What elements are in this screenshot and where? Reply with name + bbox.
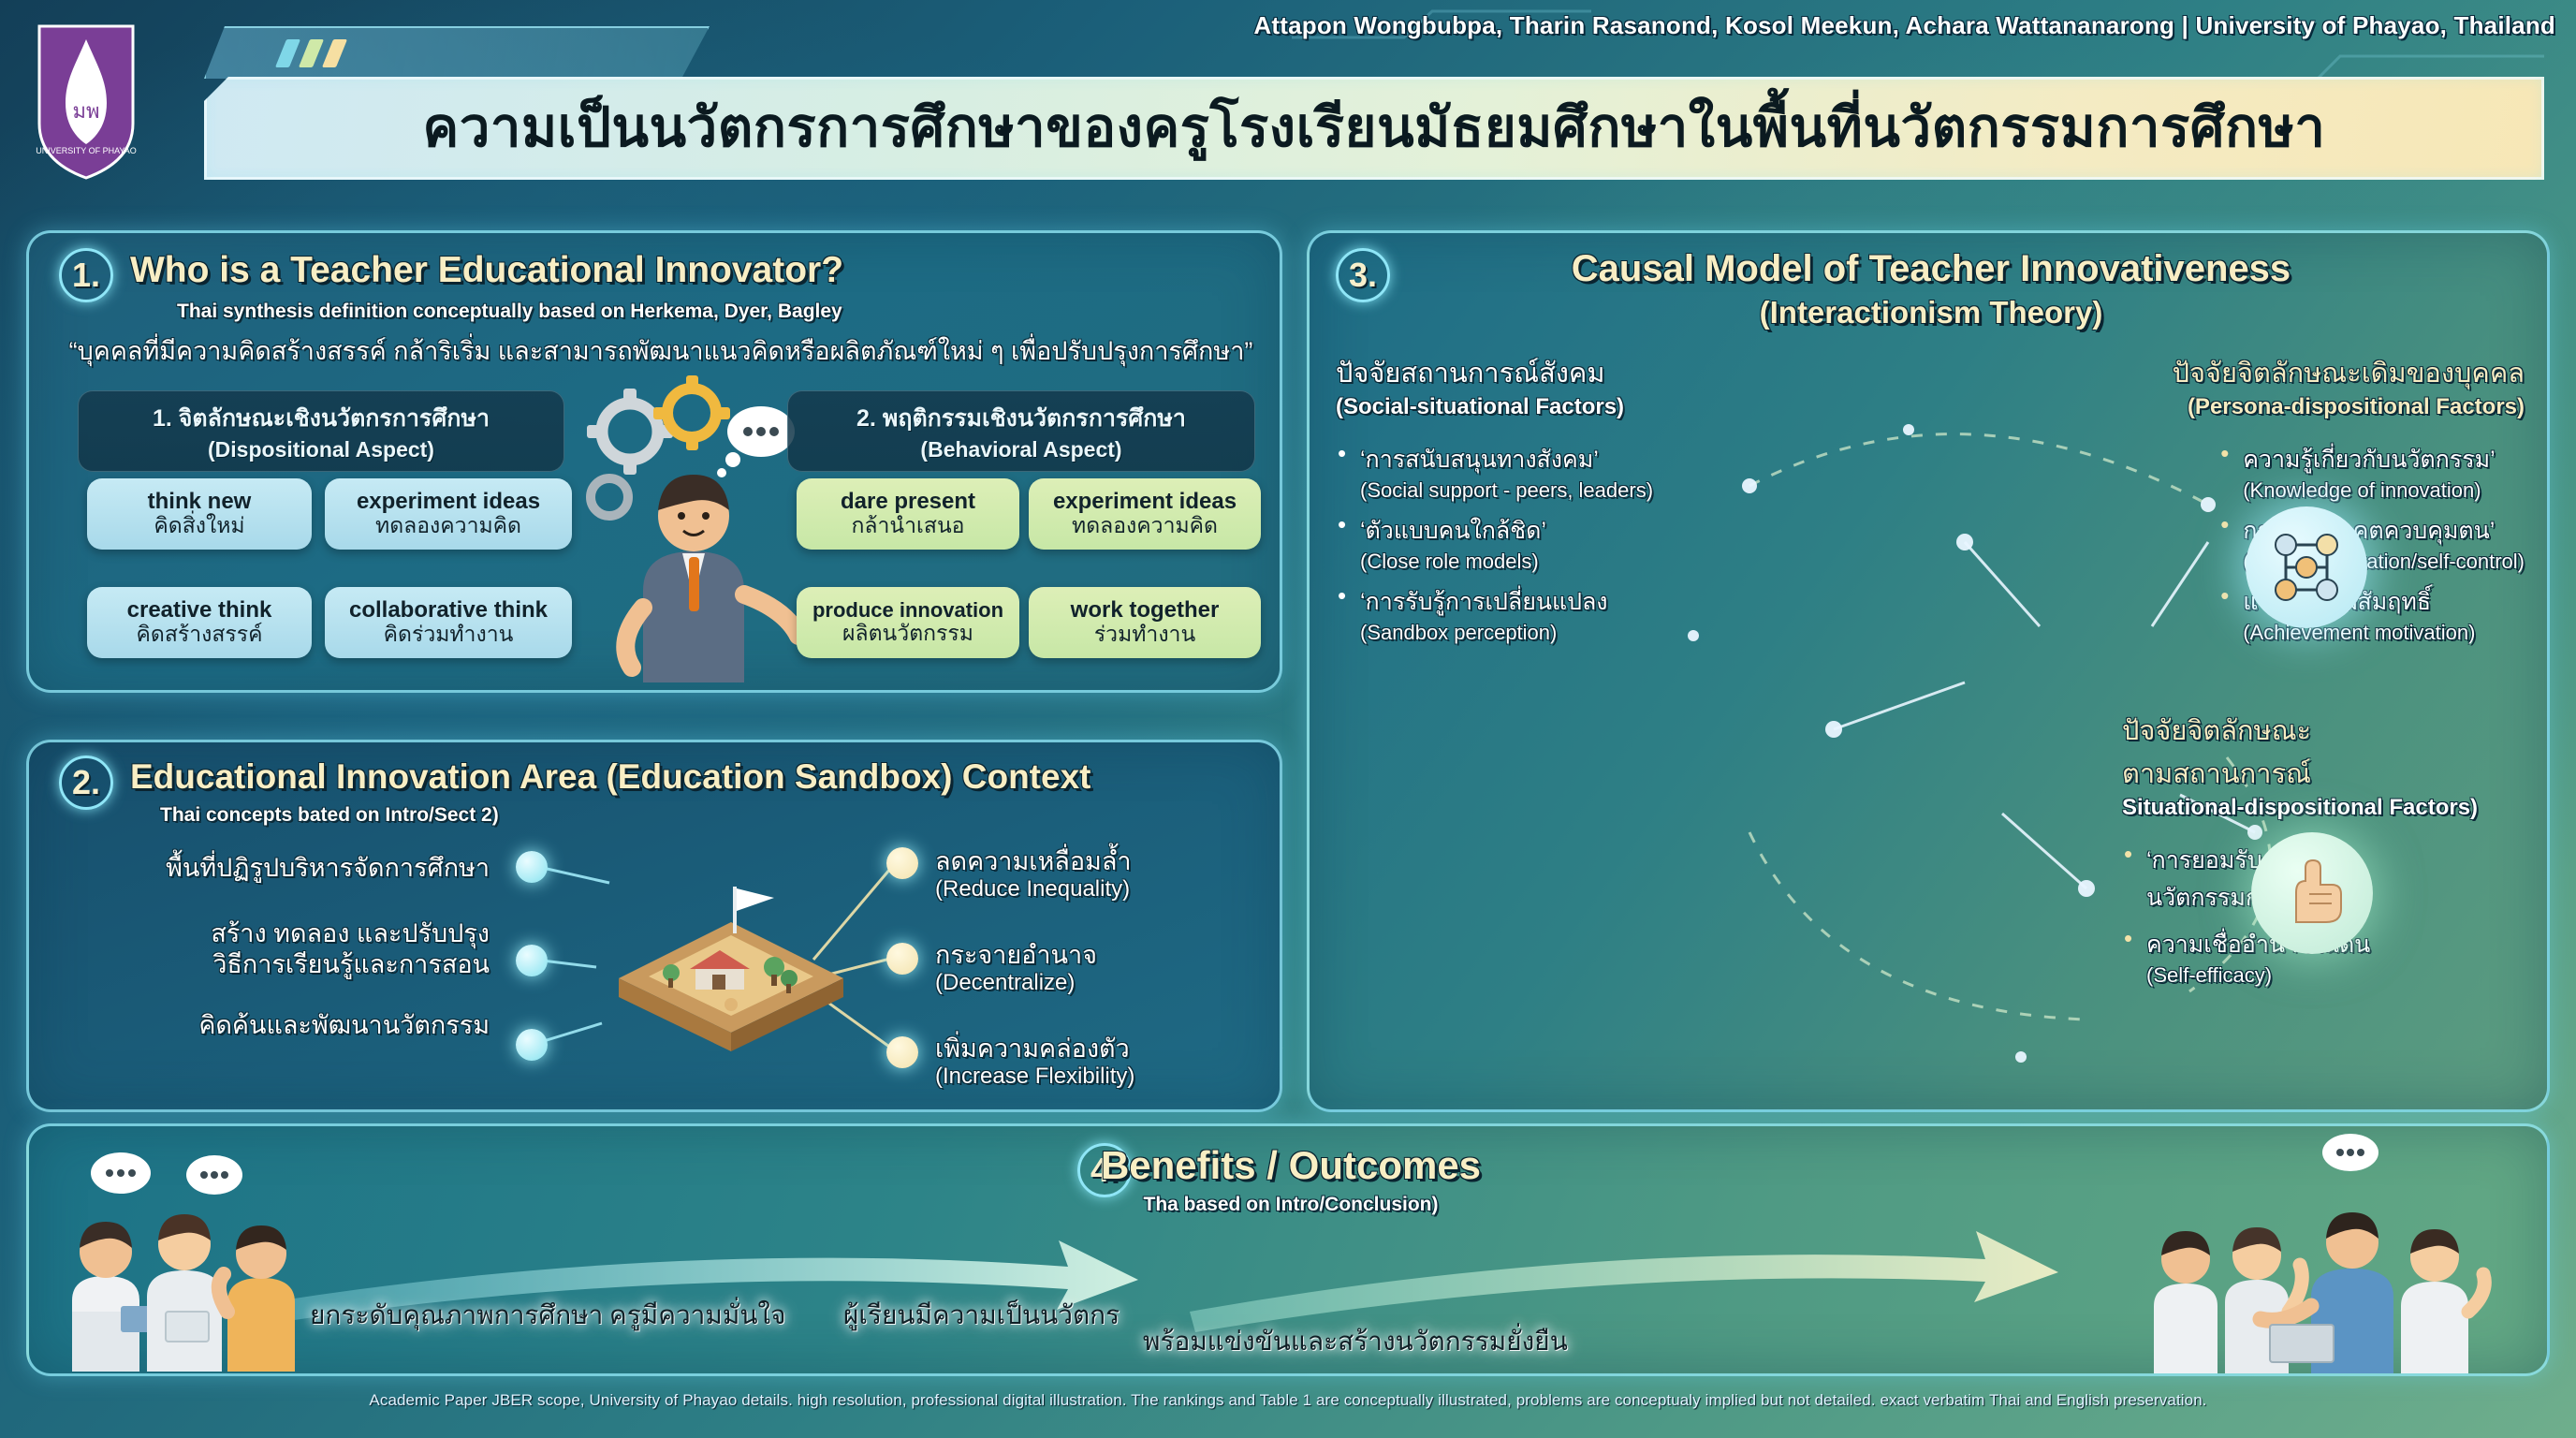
outcome-en: (Increase Flexibility) — [935, 1064, 1282, 1090]
gear-icon-large — [587, 389, 673, 475]
infographic-root: มพ UNIVERSITY OF PHAYAO Attapon Wongbubp… — [0, 0, 2576, 1438]
students-left-illustration — [48, 1147, 319, 1372]
student-figure-2 — [147, 1214, 222, 1372]
network-people-glyph — [2263, 524, 2349, 610]
chip-th: ทดลองความคิด — [375, 513, 521, 537]
chip-en: experiment ideas — [1053, 490, 1237, 513]
gear-icon-small — [591, 478, 628, 516]
dispositional-aspect-header: 1. จิตลักษณะเชิงนวัตกรการศึกษา (Disposit… — [78, 390, 564, 472]
persona-factors-th: ปัจจัยจิตลักษณะเดิมของบุคคล — [2173, 351, 2525, 394]
list-item: ‘ตัวแบบคนใกล้ชิด’ (Close role models) — [1336, 512, 1653, 574]
chip-en: work together — [1071, 598, 1220, 622]
hand-ok-glyph — [2272, 853, 2352, 933]
hand-ok-icon — [2251, 832, 2373, 954]
situational-factors-en: Situational-dispositional Factors) — [2122, 795, 2525, 821]
logo-text: UNIVERSITY OF PHAYAO — [36, 146, 137, 155]
social-factors-th: ปัจจัยสถานการณ์สังคม — [1336, 351, 1624, 394]
chip-en: produce innovation — [812, 599, 1003, 621]
teacher-figure — [625, 475, 798, 682]
list-item: ‘การสนับสนุนทางสังคม’ (Social support - … — [1336, 441, 1653, 503]
chip-en: collaborative think — [349, 598, 548, 622]
outcome-th: ลดความเหลื่อมล้ำ — [935, 847, 1132, 875]
student-figure-3 — [219, 1225, 295, 1372]
svg-text:มพ: มพ — [72, 99, 99, 123]
outcome-en: (Reduce Inequality) — [935, 876, 1282, 902]
sandbox-out-node-2 — [886, 943, 918, 975]
panel-causal-model: 3. Causal Model of Teacher Innovativenes… — [1307, 230, 2550, 1112]
sandbox-isometric-illustration — [591, 864, 871, 1070]
panel1-number: 1. — [59, 248, 113, 302]
panel1-title: Who is a Teacher Educational Innovator? — [130, 250, 843, 291]
title-plate: ความเป็นนวัตกรการศึกษาของครูโรงเรียนมัธย… — [204, 77, 2544, 180]
teachers-right-illustration — [2139, 1132, 2532, 1373]
chip-th: คิดสิ่งใหม่ — [154, 513, 244, 537]
chip-dare-present[interactable]: dare present กล้านำเสนอ — [797, 478, 1019, 550]
outcome-th: กระจายอำนาจ — [935, 941, 1097, 969]
sandbox-outcome-2: กระจายอำนาจ (Decentralize) — [935, 941, 1282, 996]
social-factors-header: ปัจจัยสถานการณ์สังคม (Social-situational… — [1336, 351, 1624, 420]
chip-th: ผลิตนวัตกรรม — [842, 621, 973, 645]
chip-th: คิดร่วมทำงาน — [384, 622, 514, 646]
chip-en: think new — [148, 490, 252, 513]
figure-presenting-student — [2401, 1229, 2484, 1373]
situational-factors-header: ปัจจัยจิตลักษณะ ตามสถานการณ์ Situational… — [2122, 709, 2525, 821]
chip-experiment-ideas-2[interactable]: experiment ideas ทดลองความคิด — [1029, 478, 1261, 550]
panel-benefits-outcomes: 4. Benefits / Outcomes Tha based on Intr… — [26, 1123, 2550, 1376]
chip-experiment-ideas-1[interactable]: experiment ideas ทดลองความคิด — [325, 478, 572, 550]
panel1-subtitle: Thai synthesis definition conceptually b… — [177, 301, 842, 323]
chip-th: คิดสร้างสรรค์ — [137, 622, 263, 646]
chip-en: dare present — [841, 490, 975, 513]
panel-who-is-innovator: 1. Who is a Teacher Educational Innovato… — [26, 230, 1282, 693]
student-figure-1 — [72, 1222, 154, 1372]
accent-bars-icon — [275, 39, 347, 67]
panel-education-sandbox: 2. Educational Innovation Area (Educatio… — [26, 740, 1282, 1112]
social-factors-list: ‘การสนับสนุนทางสังคม’ (Social support - … — [1336, 441, 1653, 654]
benefit-label-1: ยกระดับคุณภาพการศึกษา — [310, 1295, 603, 1336]
sandbox-outcome-1: ลดความเหลื่อมล้ำ (Reduce Inequality) — [935, 847, 1282, 902]
social-factors-en: (Social-situational Factors) — [1336, 394, 1624, 420]
dispositional-aspect-en: (Dispositional Aspect) — [95, 437, 548, 462]
behavioral-aspect-en: (Behavioral Aspect) — [804, 437, 1238, 462]
sandbox-out-node-1 — [886, 847, 918, 879]
benefit-label-4: พร้อมแข่งขันและสร้างนวัตกรรมยั่งยืน — [1143, 1321, 1568, 1362]
list-item: ‘การรับรู้การเปลี่ยนแปลง (Sandbox percep… — [1336, 583, 1653, 645]
footer-note: Academic Paper JBER scope, University of… — [0, 1391, 2576, 1410]
outcome-th: เพิ่มความคล่องตัว — [935, 1034, 1130, 1063]
chip-th: กล้านำเสนอ — [851, 513, 964, 537]
chip-th: ทดลองความคิด — [1072, 513, 1218, 537]
panel1-definition-quote: “บุคคลที่มีความคิดสร้างสรรค์ กล้าริเริ่ม… — [57, 330, 1265, 371]
sandbox-outcome-3: เพิ่มความคล่องตัว (Increase Flexibility) — [935, 1034, 1282, 1090]
sandbox-node-2 — [516, 945, 548, 976]
chip-creative-think[interactable]: creative think คิดสร้างสรรค์ — [87, 587, 312, 658]
chip-think-new[interactable]: think new คิดสิ่งใหม่ — [87, 478, 312, 550]
outcome-en: (Decentralize) — [935, 970, 1282, 996]
persona-factors-header: ปัจจัยจิตลักษณะเดิมของบุคคล (Persona-dis… — [2173, 351, 2525, 420]
page-header: มพ UNIVERSITY OF PHAYAO Attapon Wongbubp… — [0, 0, 2576, 204]
page-title: ความเป็นนวัตกรการศึกษาของครูโรงเรียนมัธย… — [423, 100, 2326, 157]
list-item: ความรู้เกี่ยวกับนวัตกรรม’ (Knowledge of … — [2218, 441, 2525, 503]
behavioral-aspect-header: 2. พฤติกรรมเชิงนวัตกรการศึกษา (Behaviora… — [787, 390, 1255, 472]
persona-factors-en: (Persona-dispositional Factors) — [2173, 394, 2525, 420]
chip-en: creative think — [127, 598, 272, 622]
chip-th: ร่วมทำงาน — [1094, 622, 1195, 646]
chip-produce-innovation[interactable]: produce innovation ผลิตนวัตกรรม — [797, 587, 1019, 658]
sandbox-out-node-3 — [886, 1036, 918, 1068]
university-logo: มพ UNIVERSITY OF PHAYAO — [21, 13, 152, 182]
sandbox-node-1 — [516, 851, 548, 883]
benefit-label-3: ผู้เรียนมีความเป็นนวัตกร — [843, 1295, 1120, 1336]
sandbox-node-3 — [516, 1029, 548, 1061]
dots-icon — [743, 427, 779, 436]
figure-laptop-student — [2154, 1231, 2217, 1373]
dispositional-aspect-th: 1. จิตลักษณะเชิงนวัตกรการศึกษา — [95, 400, 548, 437]
gear-icon-gold — [653, 375, 730, 450]
chip-en: experiment ideas — [357, 490, 540, 513]
chip-collaborative-think[interactable]: collaborative think คิดร่วมทำงาน — [325, 587, 572, 658]
title-accent-tab — [204, 26, 710, 79]
situational-factors-th1: ปัจจัยจิตลักษณะ — [2122, 709, 2525, 752]
benefit-label-2: ครูมีความมั่นใจ — [609, 1295, 786, 1336]
chip-work-together[interactable]: work together ร่วมทำงาน — [1029, 587, 1261, 658]
behavioral-aspect-th: 2. พฤติกรรมเชิงนวัตกรการศึกษา — [804, 400, 1238, 437]
network-people-icon — [2246, 506, 2367, 628]
situational-factors-th2: ตามสถานการณ์ — [2122, 752, 2525, 795]
authors-byline: Attapon Wongbubpa, Tharin Rasanond, Koso… — [1253, 11, 2555, 40]
